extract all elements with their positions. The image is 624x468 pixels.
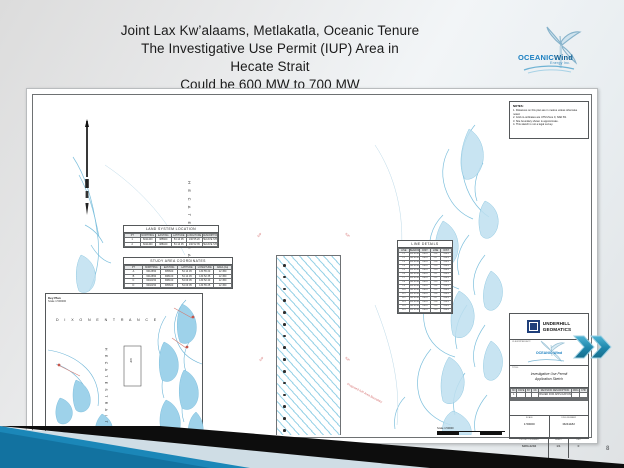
col-head: BEARING [409, 249, 420, 253]
survey-point [283, 358, 286, 361]
survey-point [283, 370, 286, 373]
survey-point-column [283, 264, 286, 435]
survey-point [283, 299, 286, 302]
cell: 090 00 00 [409, 305, 420, 309]
survey-point [283, 405, 286, 408]
study-table-title: STUDY AREA COORDINATES [124, 258, 232, 265]
cell: 2 [125, 242, 141, 246]
underhill-logo-icon [527, 320, 540, 333]
survey-point [283, 382, 286, 385]
logo-tagline: Energy Inc. [550, 61, 570, 65]
cell: 000 00 00 [409, 285, 420, 289]
cell: 130 52 35 [187, 242, 203, 246]
col-head: LONGITUDE [187, 234, 203, 238]
cell: ISSUED FOR APPLICATION [538, 393, 571, 397]
cell: 6011400 [140, 242, 156, 246]
cell: 54 09 05 [178, 283, 196, 287]
land-system-location-table[interactable]: LAND SYSTEM LOCATION PT NORTHING EASTING… [123, 225, 219, 248]
col-head: NORTHING [142, 266, 160, 270]
study-area-polygon[interactable] [276, 255, 341, 435]
col-head: DESCRIPTION [202, 234, 218, 238]
footer-banner [0, 426, 624, 468]
table-row [511, 399, 588, 400]
survey-point [283, 264, 286, 267]
drawing-sheet-border: H E C A T E S T R A I T [32, 94, 592, 438]
line-table-body: L1000 00 00250.0L16250.0 L2090 00 00250.… [399, 253, 452, 313]
cell: 000 00 00 [409, 301, 420, 305]
drawing-sheet[interactable]: H E C A T E S T R A I T [26, 88, 598, 444]
table-row: 2 6011400 388100 54 14 05 130 52 35 HECA… [125, 242, 218, 246]
double-chevron-right-icon[interactable] [572, 330, 616, 364]
col-head: DWG [572, 389, 580, 393]
cell: 090 00 00 [409, 297, 420, 301]
wind-turbine-icon [516, 26, 600, 76]
survey-point [283, 323, 286, 326]
oceanic-wind-logo: OCEANICWind Energy Inc. [516, 26, 600, 76]
cell: 000 00 00 [409, 277, 420, 281]
table-header-row: NO DATE BY CK REVISION DESCRIPTION DWG C… [511, 389, 588, 393]
slide-page-number: 8 [606, 446, 609, 452]
line-details-table[interactable]: LINE DETAILS LINE BEARING DIST LINE DIST… [397, 240, 453, 314]
table-row: D 6002150 385600 54 09 05 130 55 25 12 4… [125, 283, 232, 287]
cell: 000 00 00 [409, 253, 420, 257]
inset-label-hecate-strait: H E C A T E S T R A I T [104, 348, 108, 425]
surveyor-name-line1: UNDERHILL [543, 321, 571, 326]
cell: 388100 [156, 242, 172, 246]
survey-point [283, 276, 286, 279]
col-head: REVISION DESCRIPTION [538, 389, 571, 393]
cell: 090 00 00 [409, 289, 420, 293]
drawing-title-line1: Investigative Use Permit [531, 372, 568, 376]
cell: 090 00 00 [409, 273, 420, 277]
cell: D [125, 283, 143, 287]
page-title: Joint Lax Kw’alaams, Metlakatla, Oceanic… [60, 22, 480, 94]
table-header-row: LINE BEARING DIST LINE DIST [399, 249, 452, 253]
cell: HECATE STRAIT [202, 242, 218, 246]
dwg-cell-value: M241182 [550, 419, 589, 426]
footer-wedge-art [0, 426, 624, 468]
cell [580, 399, 588, 400]
key-plan-inset[interactable]: Key Plan Scale 1:500000 [45, 293, 203, 433]
line-table-title: LINE DETAILS [398, 241, 452, 248]
revision-table: NO DATE BY CK REVISION DESCRIPTION DWG C… [510, 388, 588, 401]
cell: 000 00 00 [409, 261, 420, 265]
inset-box-label: IUP [129, 358, 133, 363]
survey-point [283, 311, 286, 314]
inset-caption-scale: Scale 1:500000 [48, 300, 66, 303]
survey-point [283, 335, 286, 338]
surveyor-name: UNDERHILL GEOMATICS [543, 321, 571, 332]
title-label: TITLE: [510, 366, 519, 369]
col-head: LONGITUDE [196, 266, 214, 270]
cell: 250.0 [420, 309, 431, 313]
cell [572, 399, 580, 400]
cell: 090 00 00 [409, 265, 420, 269]
next-slide-button[interactable] [572, 330, 616, 364]
cell: 6002150 [142, 283, 160, 287]
cell: 000 00 00 [409, 309, 420, 313]
survey-point [283, 394, 286, 397]
inset-coastline-artwork [46, 294, 204, 434]
col-head: LATITUDE [171, 234, 187, 238]
cell: L30 [430, 309, 441, 313]
drawing-title-text: Investigative Use Permit Application Ske… [531, 372, 568, 381]
col-head: NORTHING [140, 234, 156, 238]
drawing-title-line2: Application Sketch [535, 377, 563, 381]
table-row: L15000 00 00250.0L30250.0 [399, 309, 452, 313]
cell [517, 399, 526, 400]
land-table-title: LAND SYSTEM LOCATION [124, 226, 218, 233]
cell: 000 00 00 [409, 293, 420, 297]
cell: 090 00 00 [409, 281, 420, 285]
survey-point [283, 288, 286, 291]
cell: 12 450 [214, 283, 232, 287]
cell: 130 55 20 [187, 238, 203, 242]
survey-point [283, 346, 286, 349]
notes-heading: NOTES: [513, 104, 585, 108]
col-head: DATE [517, 389, 526, 393]
cell: 250.0 [441, 309, 452, 313]
study-area-coordinates-table[interactable]: STUDY AREA COORDINATES PT NORTHING EASTI… [123, 257, 233, 289]
cell: 090 00 00 [409, 257, 420, 261]
cell: 130 55 25 [196, 283, 214, 287]
cell [538, 399, 571, 400]
cell: 385600 [160, 283, 178, 287]
north-arrow-icon [83, 119, 91, 215]
survey-point [283, 417, 286, 420]
cell: L15 [399, 309, 410, 313]
scale-cell-value: 1:50000 [510, 419, 549, 426]
notes-box: NOTES: 1. Distances on this plan are in … [509, 101, 589, 139]
inset-label-dixon-entrance: D I X O N E N T R A N C E [56, 318, 159, 322]
logo-name-first: OCEANIC [518, 53, 554, 62]
notes-line: 4. This sketch is not a legal survey. [513, 123, 585, 127]
surveyor-name-line2: GEOMATICS [543, 327, 571, 332]
client-logo-text: OCEANIC Wind [536, 351, 562, 355]
revision-cell: NO DATE BY CK REVISION DESCRIPTION DWG C… [510, 388, 588, 416]
cell: HECATE STRAIT [202, 238, 218, 242]
cell: 000 00 00 [409, 269, 420, 273]
drawing-title-cell: TITLE: Investigative Use Permit Applicat… [510, 366, 588, 388]
cell: 54 14 05 [171, 242, 187, 246]
